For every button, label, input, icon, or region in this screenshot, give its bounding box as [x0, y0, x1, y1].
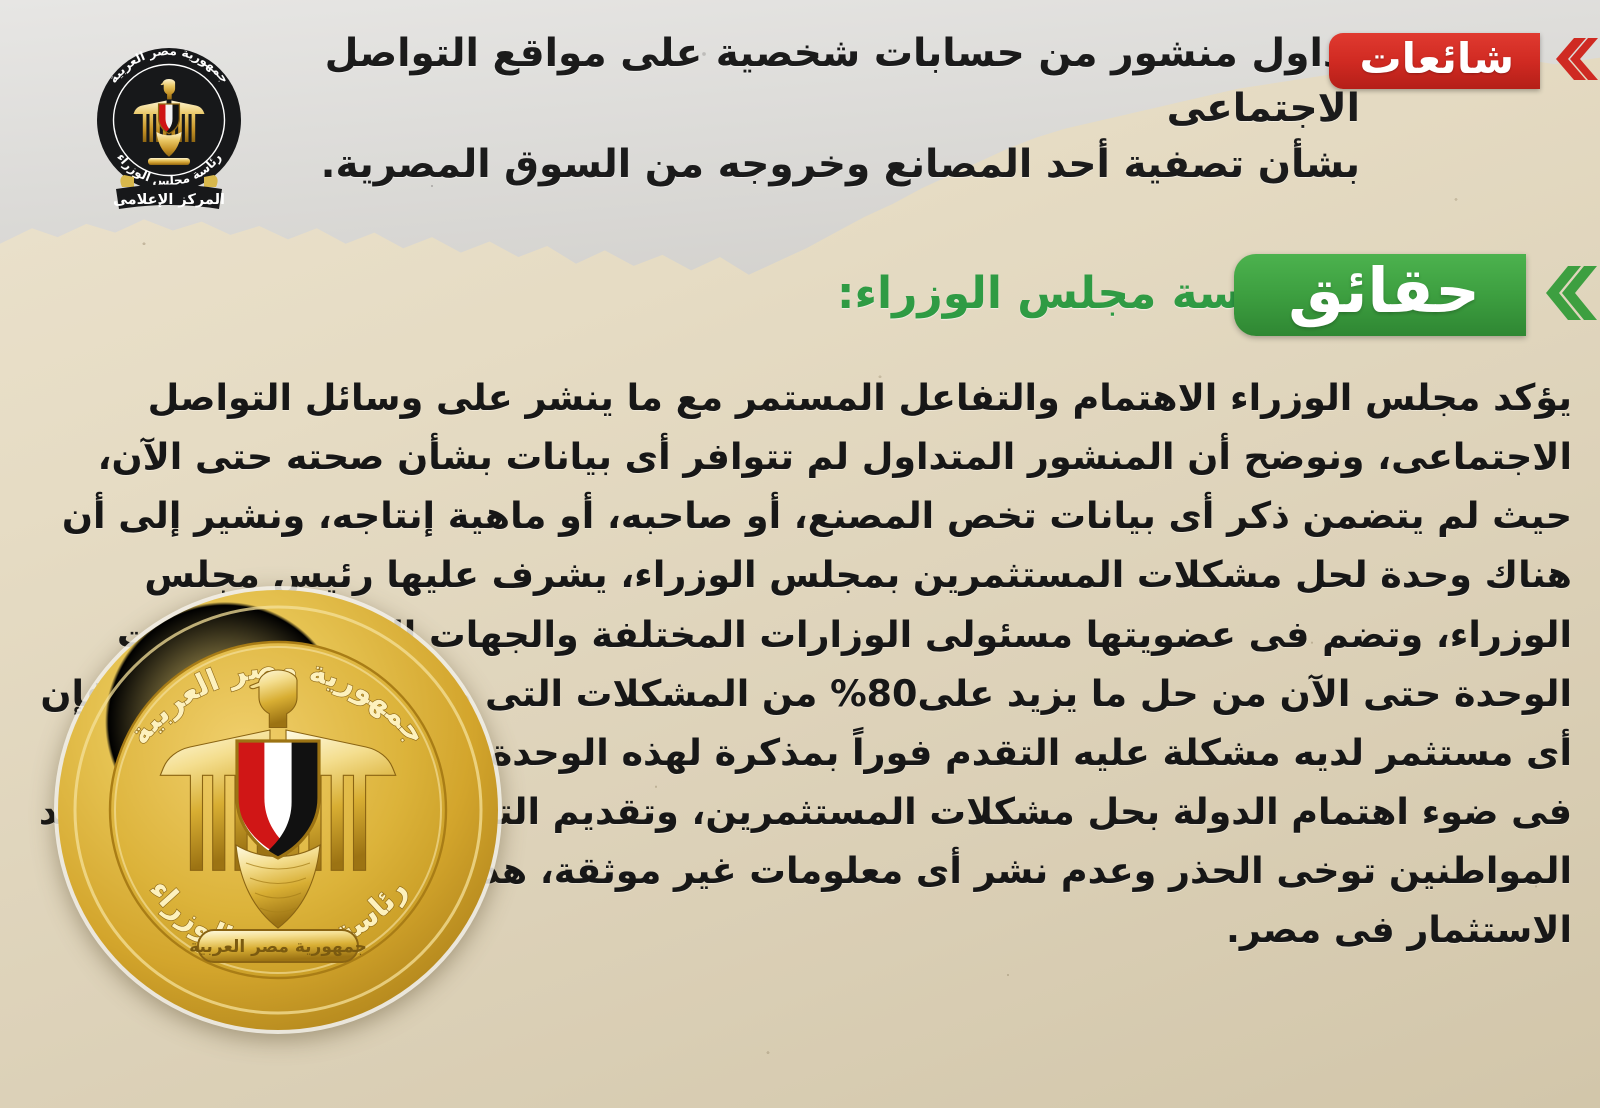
facts-subtitle: رئاسة مجلس الوزراء:: [837, 272, 1300, 316]
facts-badge-label: حقائق: [1288, 254, 1480, 327]
chevron-double-left-icon-green: [1536, 262, 1600, 328]
rumor-badge-pill: شائعات: [1329, 33, 1540, 89]
gold-cabinet-medal: جمهورية مصر العربية رئاسة مجلس الوزراء: [48, 578, 508, 1040]
infographic-poster: جمهورية مصر العربية رئاسة مجلس الوزراء: [0, 0, 1600, 1108]
chevron-double-left-icon: [1548, 35, 1600, 87]
headline-line-1: تداول منشور من حسابات شخصية على مواقع ال…: [240, 26, 1360, 137]
rumor-badge-label: شائعات: [1359, 34, 1514, 83]
facts-badge: حقائق: [1234, 254, 1600, 336]
facts-badge-pill: حقائق: [1234, 254, 1526, 336]
medal-scroll-text: جمهورية مصر العربية: [189, 937, 367, 957]
rumor-badge: شائعات: [1329, 33, 1600, 89]
facts-subtitle-text: رئاسة مجلس الوزراء:: [837, 268, 1300, 319]
headline-line-2: بشأن تصفية أحد المصانع وخروجه من السوق ا…: [240, 137, 1360, 192]
cabinet-media-center-logo: جمهورية مصر العربية رئاسة مجلس الوزراء: [78, 24, 260, 220]
headline-block: تداول منشور من حسابات شخصية على مواقع ال…: [240, 26, 1360, 192]
logo-banner-text: المركز الإعلامى: [113, 192, 225, 208]
